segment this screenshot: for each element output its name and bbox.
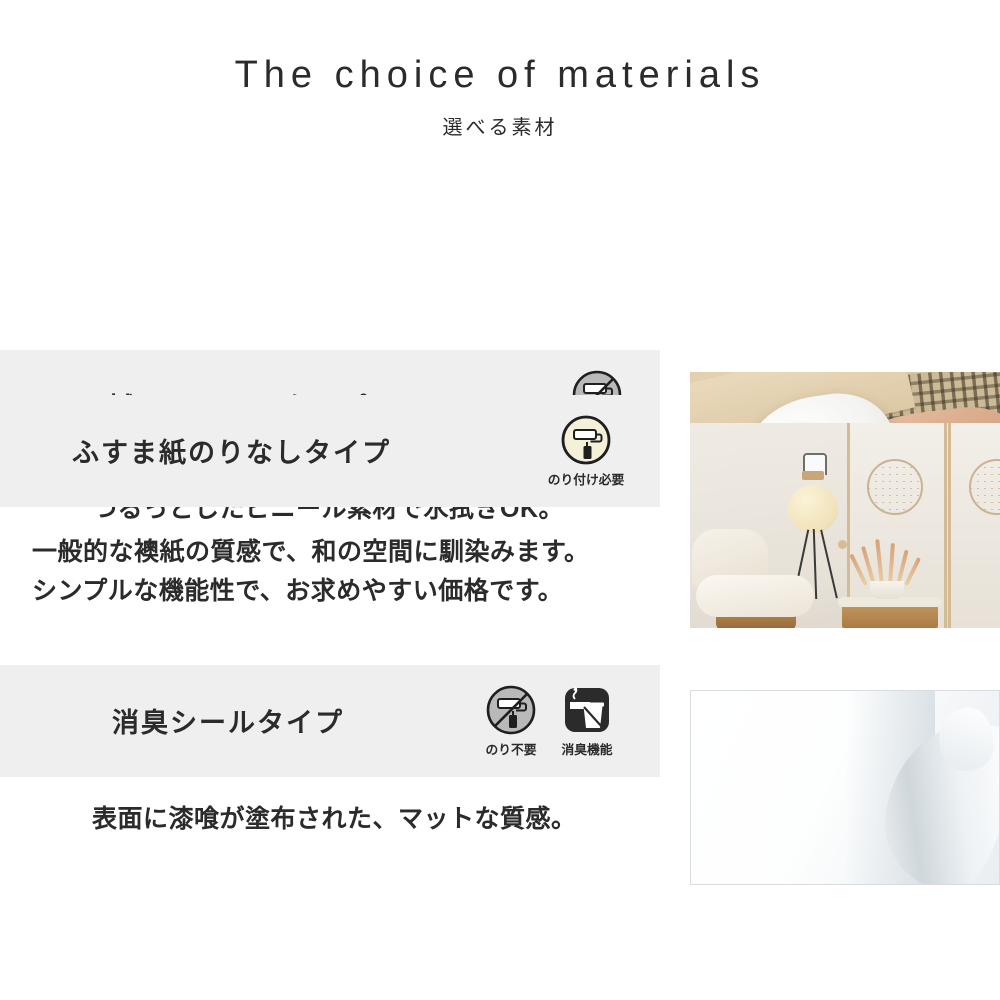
badge-glue-required: のり付け必要 <box>526 414 646 488</box>
section-description: 一般的な襖紙の質感で、和の空間に馴染みます。 シンプルな機能性で、お求めやすい価… <box>0 533 690 611</box>
round-lattice-window <box>867 459 923 515</box>
paper-lantern-shade <box>788 485 838 533</box>
material-section-fusuma-no-glue: ふすま紙のりなしタイプ のり付け必要 一般的な襖紙の質感で、和の空間に馴染みます… <box>0 405 1000 670</box>
plant-pot <box>870 581 904 599</box>
section-heading-band: 消臭シールタイプ のり不要 <box>0 665 660 777</box>
badge-deodorize: 消臭機能 <box>556 684 618 758</box>
section-heading-band: ふすま紙のりなしタイプ のり付け必要 <box>0 395 660 507</box>
deodorize-icon <box>561 684 613 736</box>
badge-group: のり付け必要 <box>526 414 646 488</box>
description-line: 一般的な襖紙の質感で、和の空間に馴染みます。 <box>32 533 690 572</box>
glue-roller-icon <box>560 414 612 466</box>
page-title-en: The choice of materials <box>0 55 1000 97</box>
badge-no-glue: のり不要 <box>480 684 542 758</box>
description-line: シンプルな機能性で、お求めやすい価格です。 <box>32 572 690 611</box>
lamp-cap <box>802 471 824 480</box>
description-line: 表面に漆喰が塗布された、マットな質感。 <box>92 800 690 839</box>
fusuma-door <box>948 423 1000 628</box>
dried-grass-plant <box>858 535 918 585</box>
badge-label: のり不要 <box>486 739 537 758</box>
section-description: 表面に漆喰が塗布された、マットな質感。 <box>0 800 690 839</box>
page-subtitle-ja: 選べる素材 <box>0 111 1000 140</box>
section-title: ふすま紙のりなしタイプ <box>72 431 391 470</box>
photo-white-curling-sheet <box>690 690 1000 885</box>
material-section-wipeable: 拭けるシールタイプ のり不要 つるっとしたビニール素材で水拭きOK。 <box>0 140 1000 405</box>
photo-japanese-interior <box>690 423 1000 628</box>
badge-label: のり付け必要 <box>548 469 624 488</box>
wall-knob <box>838 540 847 549</box>
badge-label: 消臭機能 <box>562 739 613 758</box>
no-glue-roller-icon <box>485 684 537 736</box>
page-header: The choice of materials 選べる素材 <box>0 0 1000 140</box>
section-title: 消臭シールタイプ <box>112 701 344 740</box>
badge-group: のり不要 消臭機能 <box>480 684 618 758</box>
material-section-deodorizing: 消臭シールタイプ のり不要 <box>0 670 1000 930</box>
chair-seat <box>696 575 814 617</box>
